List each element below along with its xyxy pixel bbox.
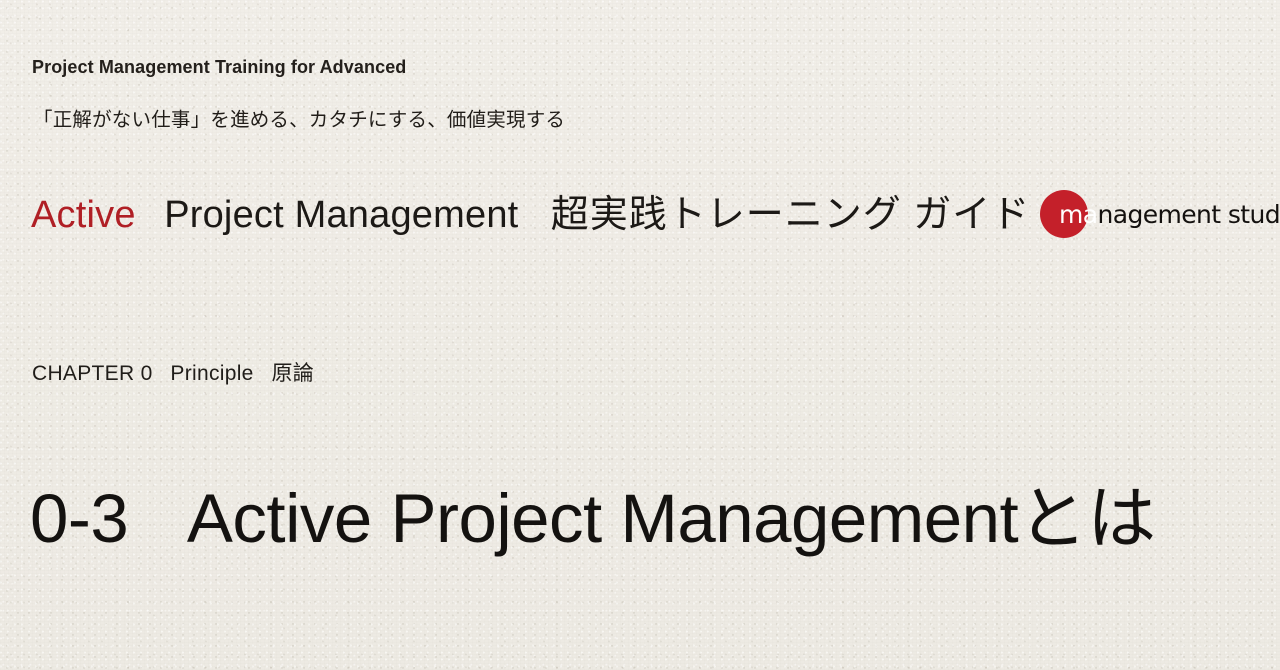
product-title-english: Project Management [164, 194, 518, 236]
chapter-name-english: Principle [170, 362, 253, 385]
slide-headline: 0-3Active Project Managementとは [30, 481, 1156, 557]
chapter-label: CHAPTER 0 [32, 362, 153, 385]
product-title-japanese: 超実践トレーニング ガイド [551, 194, 1031, 236]
brand-logo: management studio [1040, 190, 1260, 242]
headline-text-english: Active Project Management [187, 480, 1018, 557]
headline-number: 0-3 [30, 480, 128, 557]
logo-wordmark-rest: nagement studio [1097, 200, 1280, 229]
eyebrow-japanese: 「正解がない仕事」を進める、カタチにする、価値実現する [33, 103, 565, 132]
headline-text-japanese: とは [1018, 480, 1156, 557]
product-title: ActiveProject Management超実践トレーニング ガイド [31, 194, 1030, 238]
logo-knockout-letters: ma [1059, 200, 1097, 229]
chapter-name-japanese: 原論 [271, 362, 314, 385]
logo-wordmark: management studio [1059, 200, 1280, 229]
chapter-line: CHAPTER 0Principle原論 [32, 357, 314, 387]
slide-canvas: Project Management Training for Advanced… [0, 0, 1280, 670]
paper-texture-overlay [0, 0, 1280, 670]
eyebrow-english: Project Management Training for Advanced [32, 57, 406, 78]
product-title-accent-word: Active [31, 194, 136, 236]
